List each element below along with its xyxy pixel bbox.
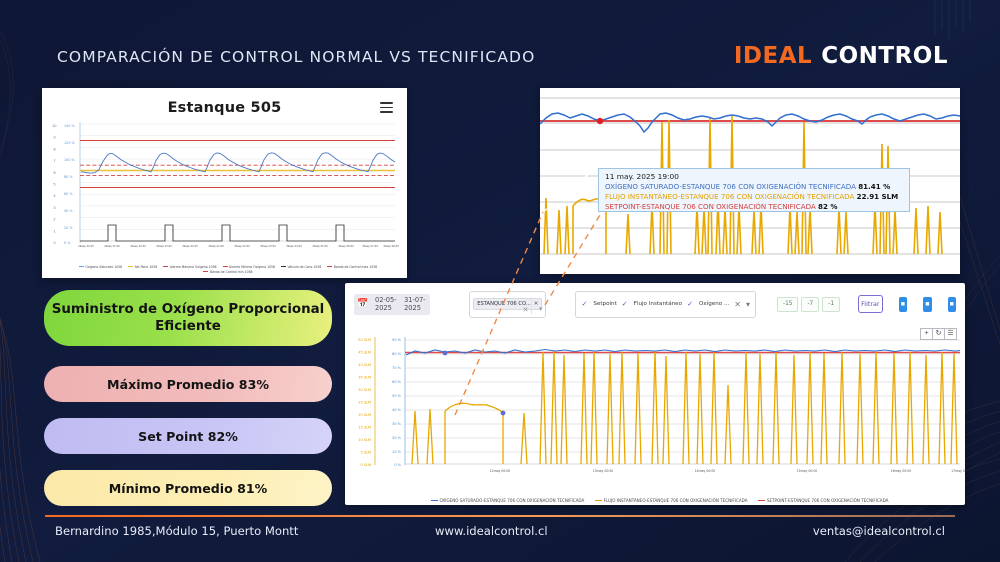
- page-footer: Bernardino 1985,Módulo 15, Puerto Montt …: [0, 520, 1000, 550]
- chart-2-tooltip: 11 may. 2025 19:00 OXÍGENO SATURADO-ESTA…: [598, 168, 910, 212]
- svg-text:25 SLM: 25 SLM: [358, 401, 371, 405]
- date-range-input[interactable]: 📅 02-05-2025 31-07-2025: [354, 294, 430, 315]
- svg-text:80 %: 80 %: [392, 352, 402, 356]
- tooltip-timestamp: 11 may. 2025 19:00: [605, 172, 903, 182]
- svg-text:35 SLM: 35 SLM: [358, 376, 371, 380]
- legend-item: Alarma Máxima Oxígeno 1058: [158, 265, 216, 269]
- svg-text:10 %: 10 %: [392, 450, 402, 454]
- page-header: COMPARACIÓN DE CONTROL NORMAL VS TECNIFI…: [0, 0, 1000, 88]
- legend-item: Set Point 1058: [123, 265, 157, 269]
- svg-text:40 %: 40 %: [64, 209, 73, 213]
- export-button[interactable]: ■: [899, 297, 907, 312]
- pill-suministro-oxigeno: Suministro de Oxígeno Proporcional Efici…: [44, 290, 332, 346]
- svg-text:16may 00:00: 16may 00:00: [891, 469, 912, 473]
- series-filter-group[interactable]: ✓Setpoint ✓Flujo Instantáneo ✓Oxígeno ..…: [575, 291, 756, 318]
- check-icon[interactable]: ✓: [622, 300, 628, 308]
- svg-text:15may 00:00: 15may 00:00: [797, 469, 818, 473]
- svg-text:0: 0: [53, 241, 56, 245]
- svg-text:30sep 04:00: 30sep 04:00: [286, 244, 302, 248]
- legend-label: FLUJO INSTANTÁNEO-ESTANQUE 706 CON OXIGE…: [604, 498, 748, 503]
- svg-text:70 %: 70 %: [392, 366, 402, 370]
- legend-label: Alarma Máxima Oxígeno 1058: [170, 265, 217, 269]
- svg-text:30sep 00:00: 30sep 00:00: [182, 244, 198, 248]
- svg-text:30 %: 30 %: [392, 422, 402, 426]
- svg-text:29sep 23:00: 29sep 23:00: [156, 244, 172, 248]
- legend-swatch: [758, 500, 765, 501]
- svg-text:60 %: 60 %: [392, 380, 402, 384]
- highlight-point-1: [443, 351, 448, 356]
- check-icon[interactable]: ✓: [581, 300, 587, 308]
- legend-item: Alarma Mínima Oxígeno 1058: [218, 265, 275, 269]
- footer-email[interactable]: ventas@idealcontrol.cl: [813, 524, 945, 538]
- pill-set-point: Set Point 82%: [44, 418, 332, 454]
- highlight-point: [597, 118, 603, 124]
- svg-text:14may 00:00: 14may 00:00: [695, 469, 716, 473]
- legend-item: Banda de Control max 1058: [322, 265, 377, 269]
- svg-text:120 %: 120 %: [64, 141, 76, 145]
- legend-swatch: [595, 500, 602, 501]
- legend-swatch: [163, 266, 168, 267]
- pill-label: Suministro de Oxígeno Proporcional Efici…: [44, 301, 332, 335]
- tooltip-value: 82 %: [818, 202, 837, 211]
- chart-1-plot: 1098 765 432 10 140 %120 %100 % 80 %60 %…: [50, 114, 399, 264]
- chart-3-legend: OXÍGENO SATURADO-ESTANQUE 706 CON OXIGEN…: [345, 498, 965, 503]
- tooltip-row-oxigeno: OXÍGENO SATURADO-ESTANQUE 706 CON OXIGEN…: [605, 182, 903, 192]
- svg-text:3: 3: [53, 206, 55, 210]
- checkbox-label-setpoint[interactable]: Setpoint: [593, 301, 616, 307]
- svg-text:9: 9: [53, 136, 56, 140]
- svg-text:8: 8: [53, 147, 56, 151]
- svg-text:29sep 22:00: 29sep 22:00: [130, 244, 146, 248]
- pill-label: Set Point 82%: [138, 429, 238, 444]
- footer-divider: [45, 515, 955, 517]
- svg-text:15 SLM: 15 SLM: [358, 426, 371, 430]
- chart-1-legend: Oxígeno Saturado 1058 Set Point 1058 Ala…: [52, 265, 399, 275]
- tooltip-value: 22.91 SLM: [857, 192, 899, 201]
- legend-swatch: [79, 266, 84, 267]
- clear-icon[interactable]: ✕: [734, 300, 741, 309]
- legend-item: Oxígeno Saturado 1058: [74, 265, 122, 269]
- tooltip-value: 81.41 %: [858, 182, 890, 191]
- svg-text:30sep 06:00: 30sep 06:00: [338, 244, 354, 248]
- quick-range-15[interactable]: -15: [777, 297, 798, 312]
- svg-text:100 %: 100 %: [64, 158, 76, 162]
- hamburger-icon[interactable]: [380, 102, 393, 113]
- chart-3-plot: 50 SLM45 SLM40 SLM 35 SLM30 SLM25 SLM 20…: [345, 325, 965, 485]
- legend-label: Banda de Control min 1058: [210, 270, 253, 274]
- svg-text:5 SLM: 5 SLM: [360, 451, 371, 455]
- pill-label: Mínimo Promedio 81%: [109, 481, 268, 496]
- svg-text:30sep 05:00: 30sep 05:00: [312, 244, 328, 248]
- svg-text:60 %: 60 %: [64, 192, 73, 196]
- chevron-down-icon[interactable]: ▾: [746, 300, 750, 309]
- svg-text:1: 1: [53, 229, 55, 233]
- page-title: COMPARACIÓN DE CONTROL NORMAL VS TECNIFI…: [57, 48, 535, 66]
- svg-text:40 SLM: 40 SLM: [358, 363, 371, 367]
- svg-text:0 %: 0 %: [394, 463, 401, 467]
- close-icon[interactable]: ✕: [534, 301, 539, 307]
- tooltip-label: OXÍGENO SATURADO-ESTANQUE 706 CON OXIGEN…: [605, 182, 856, 191]
- legend-item: SETPOINT-ESTANQUE 706 CON OXIGENACIÓN TE…: [749, 498, 889, 503]
- clear-icon[interactable]: ✕: [523, 306, 529, 314]
- chevron-down-icon[interactable]: ▾: [539, 305, 543, 313]
- svg-text:2: 2: [53, 218, 55, 222]
- svg-text:45 SLM: 45 SLM: [358, 351, 371, 355]
- tank-select[interactable]: ESTANQUE 706 CO... ✕ ✕ ▾: [469, 291, 546, 318]
- chart-panel-estanque-505[interactable]: Estanque 505 1098 765 432 10 140 %120 %1…: [42, 88, 407, 278]
- tooltip-label: FLUJO INSTANTÁNEO-ESTANQUE 706 CON OXIGE…: [605, 192, 854, 201]
- svg-text:0 %: 0 %: [64, 241, 71, 245]
- checkbox-label-oxigeno[interactable]: Oxígeno ...: [699, 301, 729, 307]
- svg-text:20 %: 20 %: [64, 226, 73, 230]
- svg-text:17may 0: 17may 0: [951, 469, 965, 473]
- svg-text:7: 7: [53, 159, 55, 163]
- quick-range-1[interactable]: -1: [822, 297, 840, 312]
- checkbox-label-flujo[interactable]: Flujo Instantáneo: [634, 301, 682, 307]
- legend-swatch: [203, 271, 208, 272]
- quick-range-group[interactable]: -15 -7 -1: [777, 294, 843, 315]
- dashboard-chart-body: + ↻ ☰ 50 SLM45 SLM40 SLM 35 SLM30 SLM25 …: [345, 325, 965, 505]
- legend-swatch: [223, 266, 228, 267]
- legend-swatch: [327, 266, 332, 267]
- svg-text:30sep 02:00: 30sep 02:00: [234, 244, 250, 248]
- dashboard-toolbar[interactable]: 📅 02-05-2025 31-07-2025 ESTANQUE 706 CO.…: [345, 283, 965, 325]
- filter-button[interactable]: Filtrar: [858, 295, 883, 313]
- divider: [531, 297, 532, 314]
- svg-text:140 %: 140 %: [64, 124, 76, 128]
- download-button[interactable]: ■: [923, 297, 931, 312]
- chart-3-controls[interactable]: + ↻ ☰: [921, 328, 957, 340]
- logo-control-text: CONTROL: [821, 43, 948, 69]
- legend-item: OXÍGENO SATURADO-ESTANQUE 706 CON OXIGEN…: [422, 498, 585, 503]
- pill-maximo-promedio: Máximo Promedio 83%: [44, 366, 332, 402]
- svg-text:29sep 21:00: 29sep 21:00: [104, 244, 120, 248]
- tooltip-row-setpoint: SETPOINT-ESTANQUE 706 CON OXIGENACIÓN TE…: [605, 202, 903, 212]
- svg-text:4: 4: [53, 194, 56, 198]
- date-from-value[interactable]: 02-05-2025: [372, 296, 401, 312]
- svg-text:50 %: 50 %: [392, 394, 402, 398]
- svg-text:6: 6: [53, 171, 56, 175]
- svg-text:20 %: 20 %: [392, 436, 402, 440]
- svg-text:30 SLM: 30 SLM: [358, 388, 371, 392]
- legend-label: Oxígeno Saturado 1058: [85, 265, 122, 269]
- logo-ideal-text: IDEAL: [734, 43, 812, 69]
- svg-text:30sep 08:00: 30sep 08:00: [383, 244, 399, 248]
- quick-range-7[interactable]: -7: [801, 297, 819, 312]
- share-button[interactable]: ■: [948, 297, 956, 312]
- svg-text:0 SLM: 0 SLM: [360, 463, 371, 467]
- svg-text:50 SLM: 50 SLM: [358, 338, 371, 342]
- legend-label: OXÍGENO SATURADO-ESTANQUE 706 CON OXIGEN…: [440, 498, 585, 503]
- legend-label: Banda de Control max 1058: [334, 265, 377, 269]
- series-valvula-cono: [80, 225, 395, 241]
- legend-swatch: [128, 266, 133, 267]
- legend-swatch: [281, 266, 286, 267]
- brand-logo: IDEALCONTROL: [734, 43, 948, 69]
- svg-text:10: 10: [52, 124, 57, 128]
- svg-text:90 %: 90 %: [392, 338, 402, 342]
- legend-label: Alarma Mínima Oxígeno 1058: [229, 265, 275, 269]
- svg-text:12may 00:00: 12may 00:00: [490, 469, 511, 473]
- legend-item: Banda de Control min 1058: [198, 270, 252, 274]
- legend-swatch: [431, 500, 438, 501]
- menu-icon[interactable]: ☰: [944, 328, 957, 340]
- svg-text:30sep 03:00: 30sep 03:00: [260, 244, 276, 248]
- svg-text:20 SLM: 20 SLM: [358, 413, 371, 417]
- footer-website[interactable]: www.idealcontrol.cl: [435, 524, 548, 538]
- dashboard-panel[interactable]: 📅 02-05-2025 31-07-2025 ESTANQUE 706 CO.…: [345, 283, 965, 505]
- svg-text:80 %: 80 %: [64, 175, 73, 179]
- svg-text:30sep 01:00: 30sep 01:00: [208, 244, 224, 248]
- pill-label: Máximo Promedio 83%: [107, 377, 269, 392]
- legend-label: Válvula de Cono 1058: [287, 265, 321, 269]
- legend-item: Válvula de Cono 1058: [276, 265, 321, 269]
- check-icon[interactable]: ✓: [687, 300, 693, 308]
- calendar-icon[interactable]: 📅: [354, 299, 372, 309]
- svg-text:13may 00:00: 13may 00:00: [593, 469, 614, 473]
- legend-item: FLUJO INSTANTÁNEO-ESTANQUE 706 CON OXIGE…: [586, 498, 748, 503]
- tooltip-row-flujo: FLUJO INSTANTÁNEO-ESTANQUE 706 CON OXIGE…: [605, 192, 903, 202]
- tooltip-label: SETPOINT-ESTANQUE 706 CON OXIGENACIÓN TE…: [605, 202, 816, 211]
- legend-label: SETPOINT-ESTANQUE 706 CON OXIGENACIÓN TE…: [767, 498, 889, 503]
- date-to-value[interactable]: 31-07-2025: [401, 296, 430, 312]
- legend-label: Set Point 1058: [135, 265, 158, 269]
- svg-text:29sep 20:00: 29sep 20:00: [78, 244, 94, 248]
- footer-address: Bernardino 1985,Módulo 15, Puerto Montt: [55, 524, 298, 538]
- svg-text:10 SLM: 10 SLM: [358, 438, 371, 442]
- svg-text:40 %: 40 %: [392, 408, 402, 412]
- pill-minimo-promedio: Mínimo Promedio 81%: [44, 470, 332, 506]
- highlight-point-2: [501, 411, 506, 416]
- svg-text:5: 5: [53, 183, 55, 187]
- svg-text:30sep 07:00: 30sep 07:00: [362, 244, 378, 248]
